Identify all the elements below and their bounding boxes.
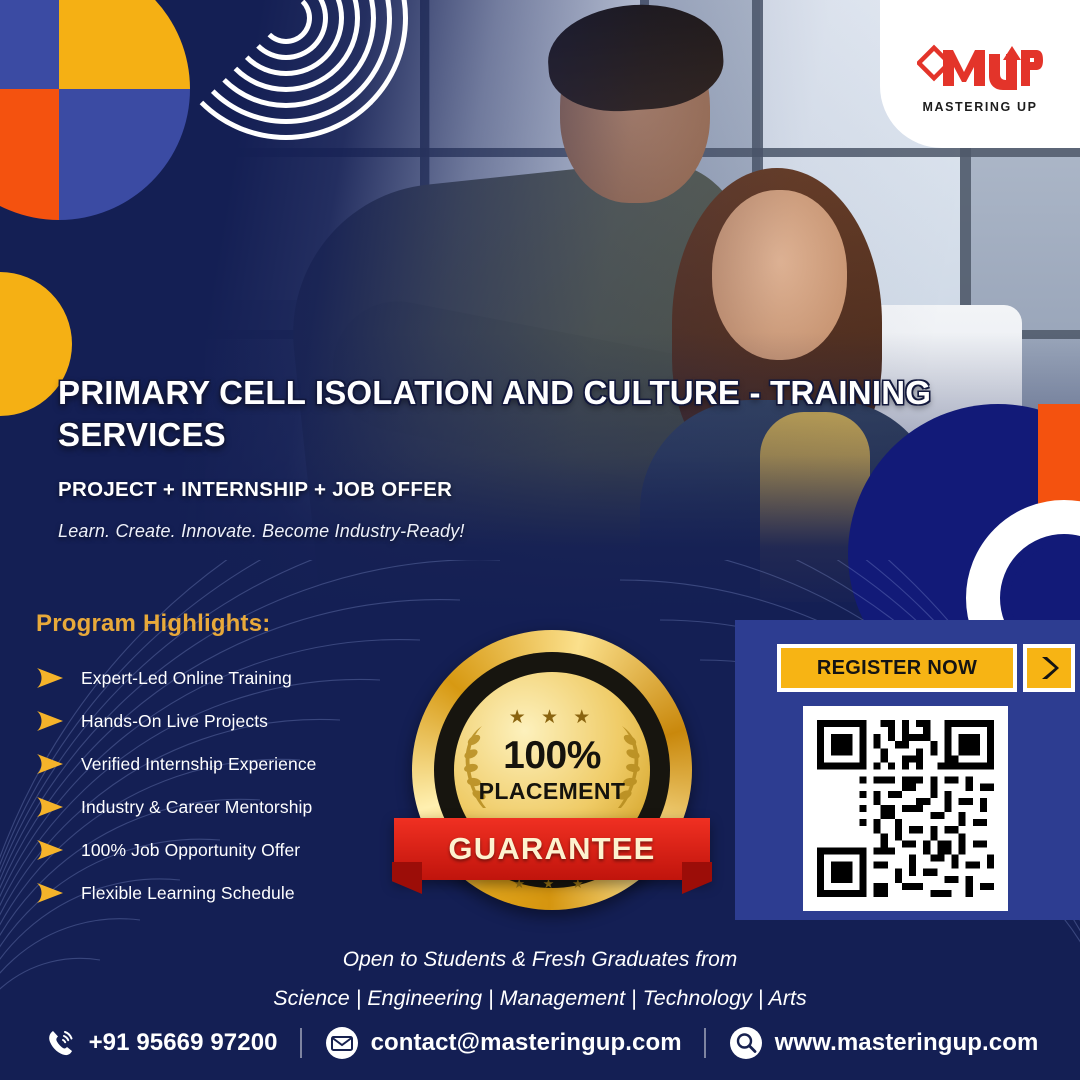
program-highlights: Program Highlights: Expert-Led Online Tr…	[36, 610, 436, 904]
list-item: Industry & Career Mentorship	[36, 796, 436, 818]
highlight-label: Industry & Career Mentorship	[81, 797, 312, 818]
phone-number: +91 95669 97200	[89, 1029, 278, 1057]
search-icon	[728, 1025, 764, 1061]
contact-phone[interactable]: +91 95669 97200	[42, 1025, 278, 1061]
footer-divider	[704, 1028, 706, 1058]
promo-poster: MASTERING UP PRIMARY CELL ISOLATION AND …	[0, 0, 1080, 1080]
eligibility-text: Open to Students & Fresh Graduates from …	[0, 948, 1080, 1011]
badge-percent: 100%	[454, 734, 650, 778]
contact-email[interactable]: contact@masteringup.com	[324, 1025, 682, 1061]
brand-logo-card: MASTERING UP	[880, 0, 1080, 148]
qr-code-frame	[803, 706, 1008, 911]
decor-concentric-arcs	[176, 0, 396, 128]
arrow-bullet-icon	[36, 839, 64, 861]
website-url: www.masteringup.com	[775, 1029, 1039, 1057]
decor-quadrant-blue-tl	[0, 0, 59, 89]
register-arrow-button[interactable]	[1027, 648, 1071, 688]
list-item: Verified Internship Experience	[36, 753, 436, 775]
eligibility-line-2: Science | Engineering | Management | Tec…	[0, 986, 1080, 1011]
envelope-icon	[324, 1025, 360, 1061]
list-item: Hands-On Live Projects	[36, 710, 436, 732]
email-address: contact@masteringup.com	[371, 1029, 682, 1057]
headline-tagline: Learn. Create. Innovate. Become Industry…	[58, 521, 968, 542]
decor-right-orange-block	[1038, 404, 1080, 514]
eligibility-line-1: Open to Students & Fresh Graduates from	[0, 948, 1080, 972]
highlight-label: Flexible Learning Schedule	[81, 883, 295, 904]
highlight-label: Expert-Led Online Training	[81, 668, 292, 689]
list-item: Flexible Learning Schedule	[36, 882, 436, 904]
chevron-right-icon	[1038, 655, 1060, 681]
footer-divider	[300, 1028, 302, 1058]
highlight-label: Hands-On Live Projects	[81, 711, 268, 732]
badge-placement-label: PLACEMENT	[454, 778, 650, 805]
list-item: Expert-Led Online Training	[36, 667, 436, 689]
decor-quadrant-orange-bl	[0, 89, 59, 220]
badge-stars-top: ★ ★ ★	[454, 708, 650, 727]
badge-ribbon: GUARANTEE	[394, 818, 710, 880]
contact-website[interactable]: www.masteringup.com	[728, 1025, 1039, 1061]
register-button-frame: REGISTER NOW	[777, 644, 1017, 692]
decor-quadrant-blue-br	[59, 89, 190, 220]
register-now-button[interactable]: REGISTER NOW	[781, 648, 1013, 688]
placement-guarantee-badge: ★ ★ ★ 100% PLACEMENT ★ ★ ★ GUARANTEE	[402, 630, 702, 920]
register-button-label: REGISTER NOW	[817, 657, 977, 680]
register-arrow-frame	[1023, 644, 1075, 692]
headline-subtitle: PROJECT + INTERNSHIP + JOB OFFER	[58, 478, 968, 502]
phone-icon	[42, 1025, 78, 1061]
cta-panel: REGISTER NOW	[735, 620, 1080, 920]
brand-logo-wordmark: MASTERING UP	[922, 100, 1037, 114]
highlight-label: 100% Job Opportunity Offer	[81, 840, 300, 861]
headline-block: PRIMARY CELL ISOLATION AND CULTURE - TRA…	[58, 372, 968, 542]
arrow-bullet-icon	[36, 753, 64, 775]
qr-code-icon[interactable]	[817, 720, 994, 897]
arrow-bullet-icon	[36, 667, 64, 689]
arrow-bullet-icon	[36, 882, 64, 904]
contact-footer: +91 95669 97200 contact@masteringup.com …	[0, 1018, 1080, 1068]
highlights-title: Program Highlights:	[36, 610, 436, 638]
highlight-label: Verified Internship Experience	[81, 754, 317, 775]
page-title: PRIMARY CELL ISOLATION AND CULTURE - TRA…	[58, 372, 968, 455]
arrow-bullet-icon	[36, 796, 64, 818]
highlights-list: Expert-Led Online Training Hands-On Live…	[36, 667, 436, 904]
mup-monogram-icon	[917, 34, 1043, 96]
badge-ribbon-label: GUARANTEE	[448, 831, 655, 867]
list-item: 100% Job Opportunity Offer	[36, 839, 436, 861]
arrow-bullet-icon	[36, 710, 64, 732]
